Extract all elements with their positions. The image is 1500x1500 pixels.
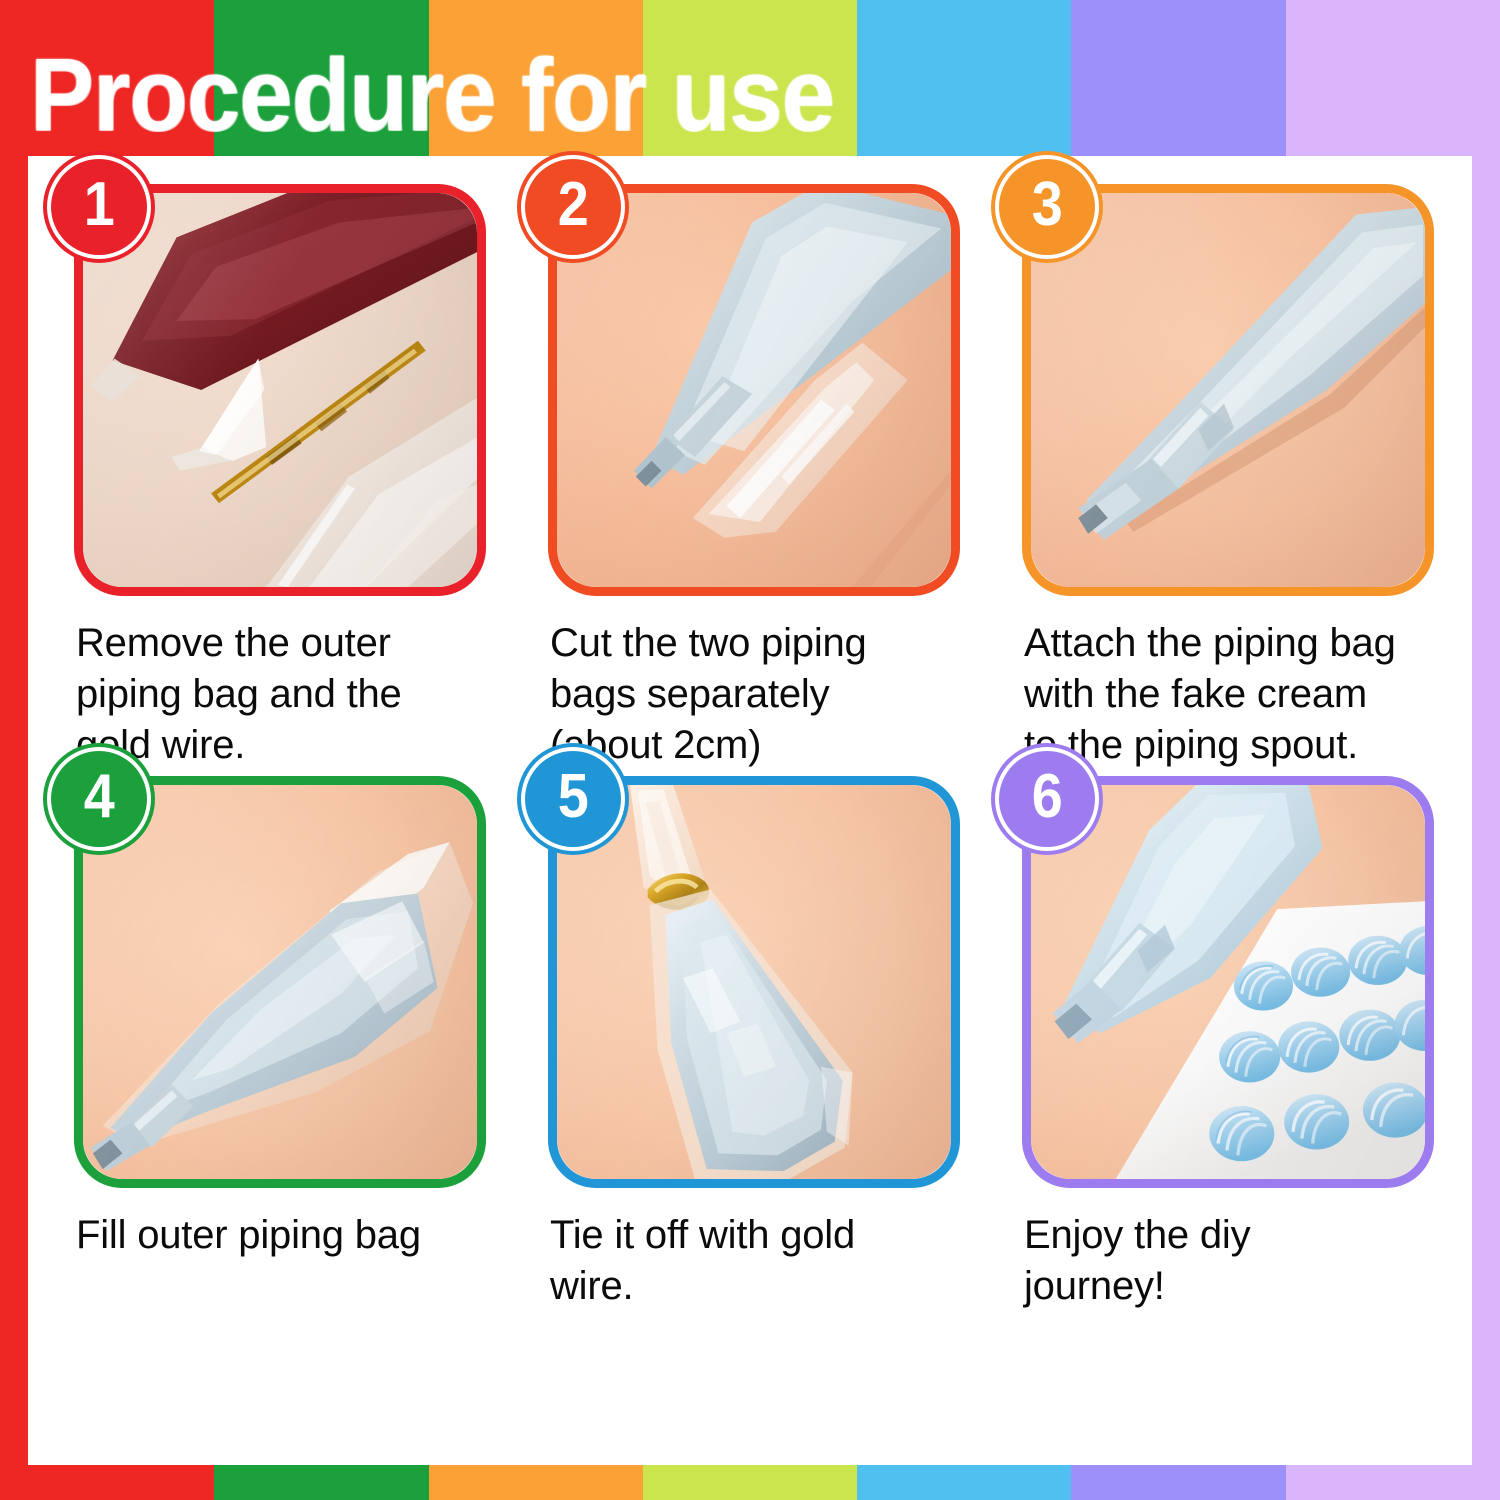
procedure-poster: Procedure for use bbox=[0, 0, 1500, 1500]
step-5-photo-card: 5 bbox=[548, 776, 960, 1188]
photo-sheen bbox=[83, 193, 477, 587]
title-bar: Procedure for use bbox=[0, 0, 1500, 160]
step-5-photo bbox=[557, 785, 951, 1179]
step-1-number-badge: 1 bbox=[51, 159, 147, 255]
step-5-caption: Tie it off with gold wire. bbox=[550, 1210, 968, 1312]
step-2: 2 Cut the two piping bags separately (ab… bbox=[532, 184, 968, 772]
step-3: 3 Attach the piping bag with the fake cr… bbox=[1006, 184, 1442, 772]
step-6-number: 6 bbox=[1031, 766, 1062, 832]
step-4: 4 Fill outer piping bag bbox=[58, 776, 494, 1312]
step-2-number-badge: 2 bbox=[525, 159, 621, 255]
photo-sheen bbox=[557, 785, 951, 1179]
step-5: 5 Tie it off with gold wire. bbox=[532, 776, 968, 1312]
steps-grid: 1 Remove the outer piping bag and the go… bbox=[58, 184, 1442, 1312]
content-panel: 1 Remove the outer piping bag and the go… bbox=[28, 156, 1472, 1465]
step-2-photo bbox=[557, 193, 951, 587]
step-3-number: 3 bbox=[1031, 174, 1062, 240]
step-1-photo-card: 1 bbox=[74, 184, 486, 596]
step-4-photo-card: 4 bbox=[74, 776, 486, 1188]
step-2-photo-card: 2 bbox=[548, 184, 960, 596]
step-6-photo-card: 6 bbox=[1022, 776, 1434, 1188]
step-4-number-badge: 4 bbox=[51, 751, 147, 847]
page-title: Procedure for use bbox=[30, 45, 834, 160]
step-3-photo bbox=[1031, 193, 1425, 587]
step-6: 6 Enjoy the diy journey! bbox=[1006, 776, 1442, 1312]
step-1-caption: Remove the outer piping bag and the gold… bbox=[76, 618, 494, 772]
step-4-photo bbox=[83, 785, 477, 1179]
step-4-number: 4 bbox=[83, 766, 114, 832]
photo-sheen bbox=[83, 785, 477, 1179]
step-1-number: 1 bbox=[83, 174, 114, 240]
step-6-caption: Enjoy the diy journey! bbox=[1024, 1210, 1442, 1312]
step-2-number: 2 bbox=[557, 174, 588, 240]
step-5-number-badge: 5 bbox=[525, 751, 621, 847]
step-2-caption: Cut the two piping bags separately (abou… bbox=[550, 618, 968, 772]
step-1-photo bbox=[83, 193, 477, 587]
step-3-number-badge: 3 bbox=[999, 159, 1095, 255]
photo-sheen bbox=[1031, 193, 1425, 587]
photo-sheen bbox=[557, 193, 951, 587]
step-5-number: 5 bbox=[557, 766, 588, 832]
step-6-number-badge: 6 bbox=[999, 751, 1095, 847]
photo-sheen bbox=[1031, 785, 1425, 1179]
step-4-caption: Fill outer piping bag bbox=[76, 1210, 494, 1261]
step-3-photo-card: 3 bbox=[1022, 184, 1434, 596]
step-1: 1 Remove the outer piping bag and the go… bbox=[58, 184, 494, 772]
step-3-caption: Attach the piping bag with the fake crea… bbox=[1024, 618, 1442, 772]
step-6-photo bbox=[1031, 785, 1425, 1179]
